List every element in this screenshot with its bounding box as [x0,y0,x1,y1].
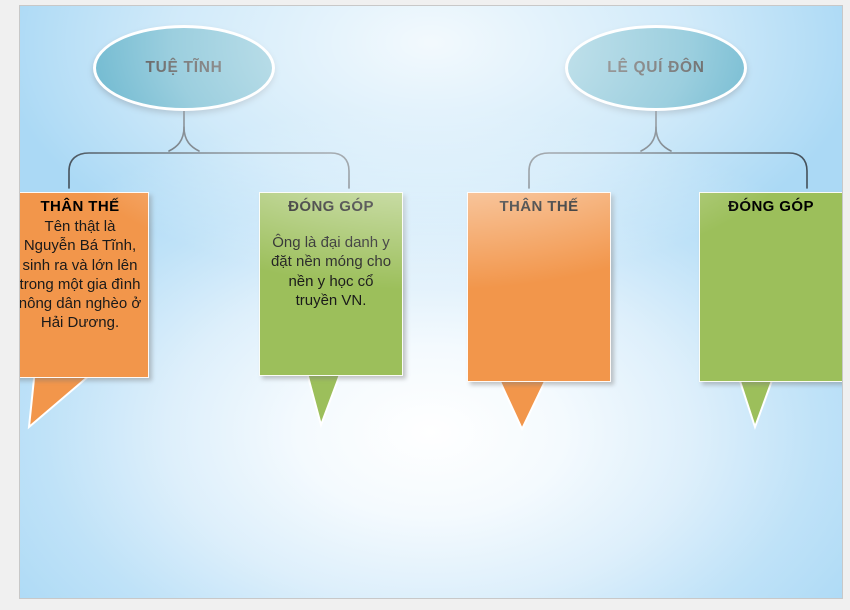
node-le-qui-don-label: LÊ QUÍ ĐÔN [607,59,704,77]
callout-tue-tinh-than-the[interactable]: THÂN THẾ Tên thật là Nguyễn Bá Tĩnh, sin… [19,186,156,386]
callout-body-4: ĐÓNG GÓP [692,186,843,390]
slide-canvas: TUỆ TĨNH LÊ QUÍ ĐÔN THÂN THẾ Tên thật là… [19,5,843,599]
callout-text-1: Tên thật là Nguyễn Bá Tĩnh, sinh ra và l… [19,217,142,332]
callout-body-1: THÂN THẾ Tên thật là Nguyễn Bá Tĩnh, sin… [19,186,156,386]
callout-body-2: ĐÓNG GÓP Ông là đại danh y đặt nền móng … [252,186,410,384]
slide-content: TUỆ TĨNH LÊ QUÍ ĐÔN THÂN THẾ Tên thật là… [19,5,843,599]
slide-root: TUỆ TĨNH LÊ QUÍ ĐÔN THÂN THẾ Tên thật là… [0,0,850,610]
callout-title-2: ĐÓNG GÓP [266,198,396,215]
callout-body-3: THÂN THẾ [460,186,618,390]
node-le-qui-don[interactable]: LÊ QUÍ ĐÔN [565,25,747,111]
callout-tue-tinh-dong-gop[interactable]: ĐÓNG GÓP Ông là đại danh y đặt nền móng … [252,186,410,384]
node-tue-tinh-label: TUỆ TĨNH [145,59,222,77]
callout-text-2: Ông là đại danh y đặt nền móng cho nền y… [266,233,396,310]
callout-title-4: ĐÓNG GÓP [706,198,836,215]
node-tue-tinh[interactable]: TUỆ TĨNH [93,25,275,111]
callout-le-qui-don-dong-gop[interactable]: ĐÓNG GÓP [692,186,843,390]
callout-title-1: THÂN THẾ [19,198,142,215]
callout-le-qui-don-than-the[interactable]: THÂN THẾ [460,186,618,390]
callout-title-3: THÂN THẾ [474,198,604,215]
